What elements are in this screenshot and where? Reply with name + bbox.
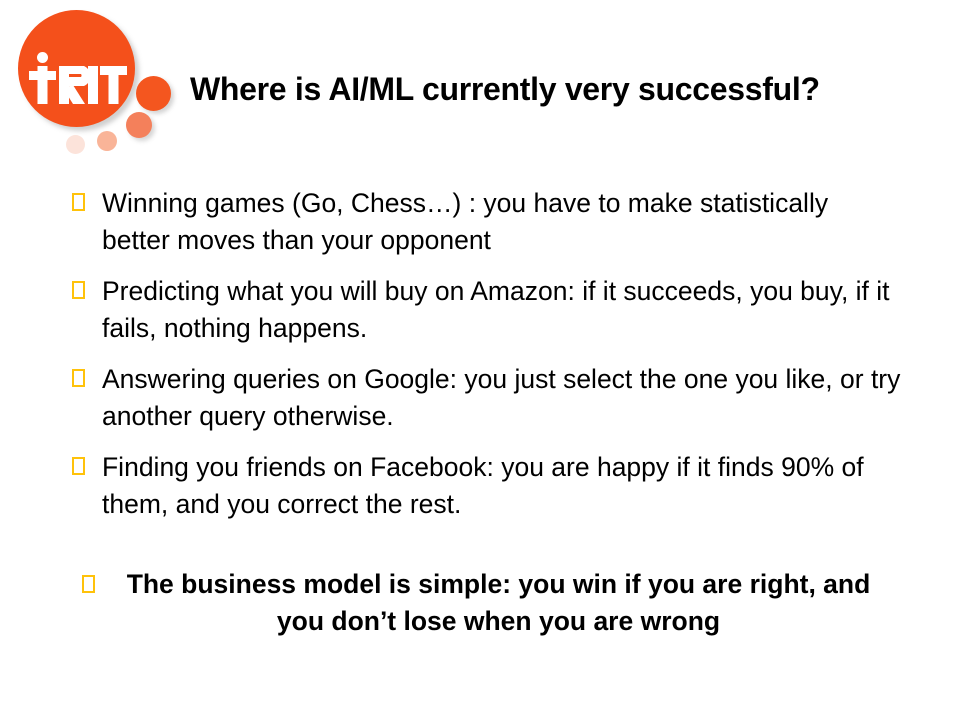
hollow-box-bullet-icon (72, 457, 85, 475)
list-item: Answering queries on Google: you just se… (72, 361, 902, 435)
list-item: Finding you friends on Facebook: you are… (72, 449, 902, 523)
logo-accent-circle-3 (97, 131, 117, 151)
logo-wordmark-irit (28, 52, 128, 104)
hollow-box-bullet-icon (72, 281, 85, 299)
list-item: Winning games (Go, Chess…) : you have to… (72, 185, 902, 259)
bullet-list: Winning games (Go, Chess…) : you have to… (72, 185, 902, 537)
logo-accent-circle-2 (126, 112, 152, 138)
list-item-text: Finding you friends on Facebook: you are… (102, 449, 902, 523)
list-item-text: Winning games (Go, Chess…) : you have to… (102, 185, 902, 259)
logo-accent-circle-4 (66, 135, 85, 154)
conclusion-item: The business model is simple: you win if… (72, 566, 902, 640)
hollow-box-bullet-icon (82, 575, 95, 593)
hollow-box-bullet-icon (72, 193, 85, 211)
logo-accent-circle-1 (136, 76, 171, 111)
list-item-text: Answering queries on Google: you just se… (102, 361, 902, 435)
list-item-text: Predicting what you will buy on Amazon: … (102, 273, 902, 347)
irit-logo (0, 0, 200, 170)
hollow-box-bullet-icon (72, 369, 85, 387)
list-item: Predicting what you will buy on Amazon: … (72, 273, 902, 347)
page-title: Where is AI/ML currently very successful… (190, 70, 910, 108)
conclusion-text: The business model is simple: you win if… (109, 566, 902, 640)
slide-canvas: { "slide": { "title": "Where is AI/ML cu… (0, 0, 960, 720)
